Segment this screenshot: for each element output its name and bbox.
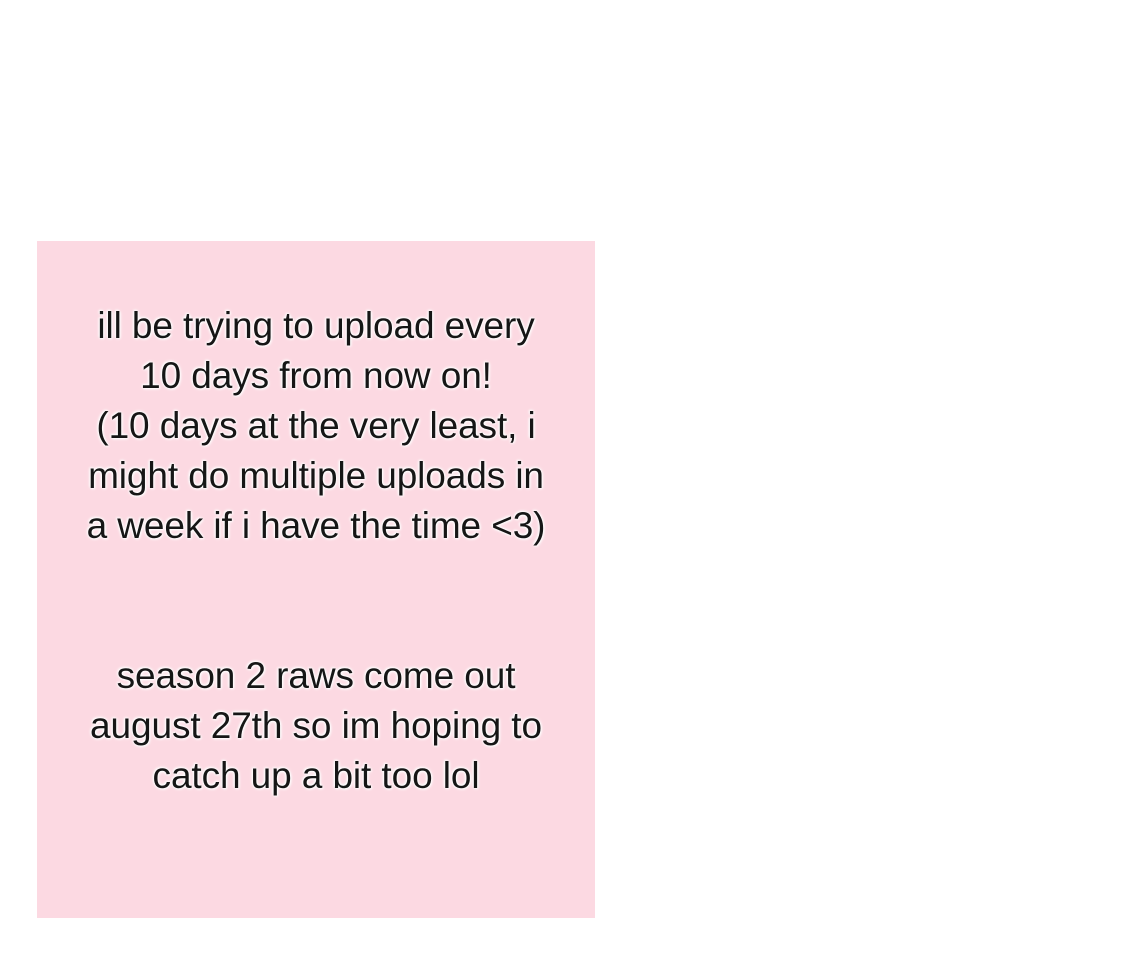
announcement-line: ill be trying to upload every bbox=[37, 301, 595, 351]
announcement-line: season 2 raws come out bbox=[37, 651, 595, 701]
announcement-line: august 27th so im hoping to bbox=[37, 701, 595, 751]
announcement-line: a week if i have the time <3) bbox=[37, 501, 595, 551]
announcement-paragraph-2: season 2 raws come out august 27th so im… bbox=[37, 651, 595, 801]
announcement-text-block: ill be trying to upload every 10 days fr… bbox=[37, 241, 595, 801]
announcement-paragraph-1: ill be trying to upload every 10 days fr… bbox=[37, 301, 595, 551]
announcement-line: catch up a bit too lol bbox=[37, 751, 595, 801]
announcement-line: 10 days from now on! bbox=[37, 351, 595, 401]
paragraph-spacer bbox=[37, 551, 595, 651]
announcement-panel: ill be trying to upload every 10 days fr… bbox=[37, 241, 595, 918]
page-canvas: ill be trying to upload every 10 days fr… bbox=[0, 0, 1140, 960]
announcement-line: (10 days at the very least, i bbox=[37, 401, 595, 451]
announcement-line: might do multiple uploads in bbox=[37, 451, 595, 501]
